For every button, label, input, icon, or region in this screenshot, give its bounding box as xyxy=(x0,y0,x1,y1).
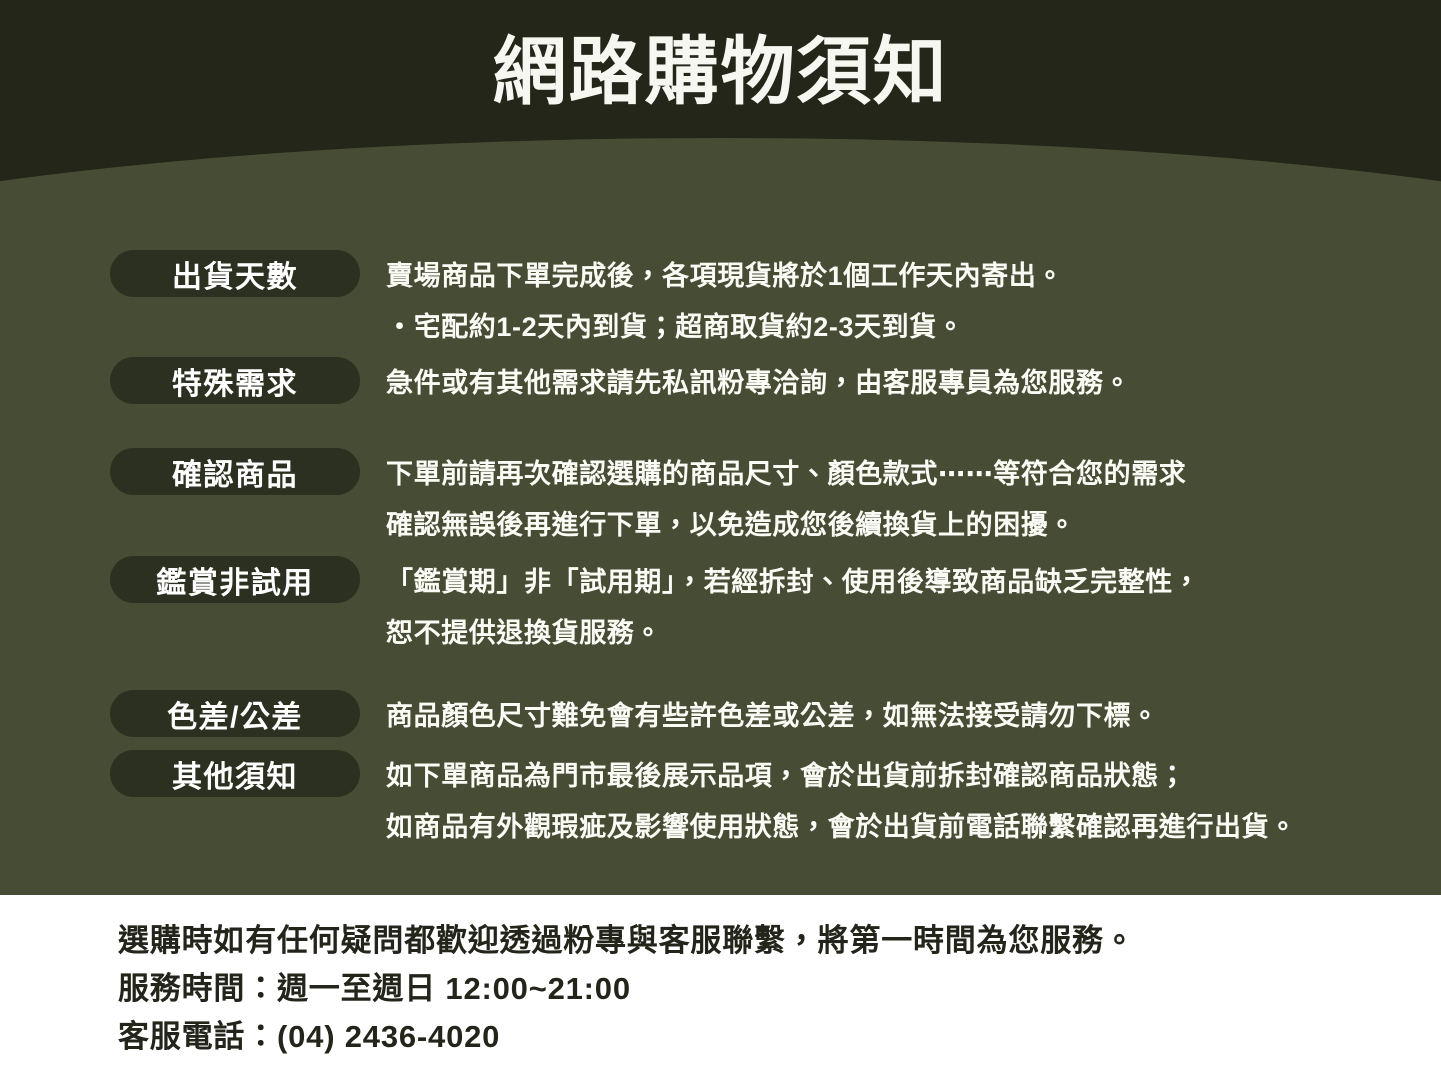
notice-line: 如商品有外觀瑕疵及影響使用狀態，會於出貨前電話聯繫確認再進行出貨。 xyxy=(386,802,1441,853)
notice-page: 網路購物須知 出貨天數 賣場商品下單完成後，各項現貨將於1個工作天內寄出。 ・宅… xyxy=(0,0,1441,1080)
notice-body-shipping-days: 賣場商品下單完成後，各項現貨將於1個工作天內寄出。 ・宅配約1-2天內到貨；超商… xyxy=(386,250,1441,353)
notice-row-special-request: 特殊需求 急件或有其他需求請先私訊粉專洽詢，由客服專員為您服務。 xyxy=(0,357,1441,409)
notice-body-other: 如下單商品為門市最後展示品項，會於出貨前拆封確認商品狀態； 如商品有外觀瑕疵及影… xyxy=(386,750,1441,853)
footer-contact-note: 選購時如有任何疑問都歡迎透過粉專與客服聯繫，將第一時間為您服務。 xyxy=(118,917,1441,965)
notice-row-color-tolerance: 色差/公差 商品顏色尺寸難免會有些許色差或公差，如無法接受請勿下標。 xyxy=(0,690,1441,742)
notice-row-inspection-period: 鑑賞非試用 「鑑賞期」非「試用期」，若經拆封、使用後導致商品缺乏完整性， 恕不提… xyxy=(0,556,1441,659)
footer-service-phone: 客服電話：(04) 2436-4020 xyxy=(118,1013,1441,1061)
notice-line: 下單前請再次確認選購的商品尺寸、顏色款式⋯⋯等符合您的需求 xyxy=(386,449,1441,500)
notice-line: 如下單商品為門市最後展示品項，會於出貨前拆封確認商品狀態； xyxy=(386,751,1441,802)
notice-label-other: 其他須知 xyxy=(110,750,360,797)
notice-body-inspection-period: 「鑑賞期」非「試用期」，若經拆封、使用後導致商品缺乏完整性， 恕不提供退換貨服務… xyxy=(386,556,1441,659)
notice-rows: 出貨天數 賣場商品下單完成後，各項現貨將於1個工作天內寄出。 ・宅配約1-2天內… xyxy=(0,0,1441,895)
notice-line: 商品顏色尺寸難免會有些許色差或公差，如無法接受請勿下標。 xyxy=(386,691,1441,742)
notice-body-special-request: 急件或有其他需求請先私訊粉專洽詢，由客服專員為您服務。 xyxy=(386,357,1441,409)
notice-line: 確認無誤後再進行下單，以免造成您後續換貨上的困擾。 xyxy=(386,500,1441,551)
notice-label-special-request: 特殊需求 xyxy=(110,357,360,404)
notice-body-color-tolerance: 商品顏色尺寸難免會有些許色差或公差，如無法接受請勿下標。 xyxy=(386,690,1441,742)
notice-row-shipping-days: 出貨天數 賣場商品下單完成後，各項現貨將於1個工作天內寄出。 ・宅配約1-2天內… xyxy=(0,250,1441,353)
notice-body-confirm-product: 下單前請再次確認選購的商品尺寸、顏色款式⋯⋯等符合您的需求 確認無誤後再進行下單… xyxy=(386,448,1441,551)
notice-line: 「鑑賞期」非「試用期」，若經拆封、使用後導致商品缺乏完整性， xyxy=(386,557,1441,608)
notice-row-other: 其他須知 如下單商品為門市最後展示品項，會於出貨前拆封確認商品狀態； 如商品有外… xyxy=(0,750,1441,853)
notice-line: 恕不提供退換貨服務。 xyxy=(386,608,1441,659)
notice-line: 急件或有其他需求請先私訊粉專洽詢，由客服專員為您服務。 xyxy=(386,358,1441,409)
notice-row-confirm-product: 確認商品 下單前請再次確認選購的商品尺寸、顏色款式⋯⋯等符合您的需求 確認無誤後… xyxy=(0,448,1441,551)
footer-service-hours: 服務時間：週一至週日 12:00~21:00 xyxy=(118,965,1441,1013)
notice-label-inspection-period: 鑑賞非試用 xyxy=(110,556,360,603)
notice-label-shipping-days: 出貨天數 xyxy=(110,250,360,297)
notice-label-color-tolerance: 色差/公差 xyxy=(110,690,360,737)
notice-line: 賣場商品下單完成後，各項現貨將於1個工作天內寄出。 xyxy=(386,251,1441,302)
notice-line: ・宅配約1-2天內到貨；超商取貨約2-3天到貨。 xyxy=(386,302,1441,353)
notice-label-confirm-product: 確認商品 xyxy=(110,448,360,495)
footer-contact-panel: 選購時如有任何疑問都歡迎透過粉專與客服聯繫，將第一時間為您服務。 服務時間：週一… xyxy=(0,895,1441,1080)
